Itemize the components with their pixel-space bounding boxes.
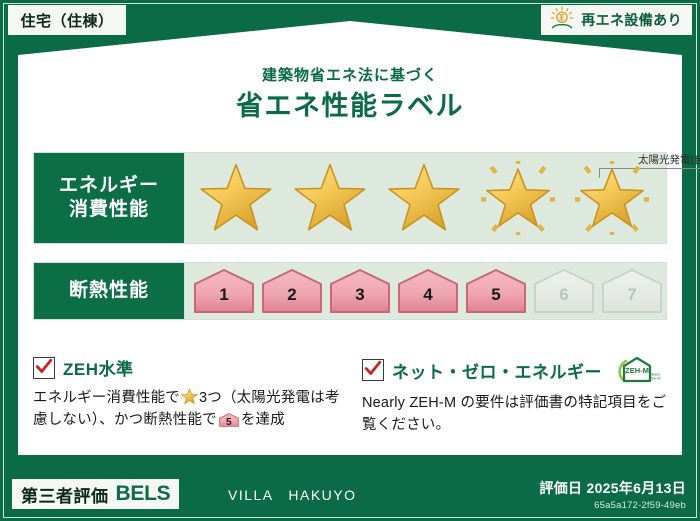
house-level-value: 5 (219, 415, 239, 431)
insulation-level-4: 4 (397, 268, 459, 314)
checkbox-checked-icon (362, 359, 384, 381)
star-rating (185, 153, 666, 243)
star-icon (481, 161, 555, 235)
label-subtitle: 建築物省エネ法に基づく (0, 64, 700, 85)
zeh-note-header: ZEH水準 (33, 355, 343, 380)
renewable-badge-label: 再エネ設備あり (581, 10, 682, 30)
insulation-caption-label: 断熱性能 (69, 279, 149, 303)
document-id: 65a5a172-2f59-49eb (539, 500, 686, 511)
zeh-m-logo-icon: ZEH-M Nearly ZEH-M (615, 355, 661, 385)
star-cell (379, 156, 469, 240)
energy-caption-line1: エネルギー (59, 174, 159, 198)
star-icon (293, 161, 367, 235)
star-cell-solar (473, 156, 563, 240)
star-icon (575, 161, 649, 235)
building-name: VILLA HAKUYO (228, 485, 357, 505)
insulation-performance-row: 断熱性能 1 2 (33, 262, 667, 320)
energy-performance-row: エネルギー 消費性能 太陽光発電(自家消費)分 (33, 152, 667, 244)
insulation-level-label: 2 (261, 285, 323, 305)
star-cell (285, 156, 375, 240)
star-icon (181, 388, 198, 405)
insulation-level-5: 5 (465, 268, 527, 314)
nze-note-body: Nearly ZEH-M の要件は評価書の特記項目をご覧ください。 (362, 392, 672, 437)
zeh-body-text-1: エネルギー消費性能で (33, 390, 180, 406)
energy-performance-stars-area: 太陽光発電(自家消費)分 (185, 152, 667, 244)
nze-note-header: ネット・ゼロ・エネルギー ZEH-M Nearly ZEH-M (362, 355, 672, 385)
energy-caption-line2: 消費性能 (69, 198, 149, 222)
svg-text:Nearly: Nearly (650, 373, 660, 377)
insulation-level-label: 1 (193, 285, 255, 305)
insulation-level-label: 6 (533, 285, 595, 305)
insulation-level-3: 3 (329, 268, 391, 314)
label-title: 省エネ性能ラベル (0, 84, 700, 123)
net-zero-energy-note: ネット・ゼロ・エネルギー ZEH-M Nearly ZEH-M Nearly Z… (362, 355, 672, 437)
bels-brand-label: BELS (116, 482, 171, 506)
star-icon (387, 161, 461, 235)
insulation-levels-area: 1 2 3 4 5 (185, 262, 667, 320)
zeh-note-title: ZEH水準 (63, 355, 134, 380)
insulation-level-scale: 1 2 3 4 5 (185, 263, 666, 319)
energy-performance-caption: エネルギー 消費性能 (33, 152, 185, 244)
zeh-standard-note: ZEH水準 エネルギー消費性能で3つ（太陽光発電は考慮しない）、かつ断熱性能で5… (33, 355, 343, 432)
insulation-level-label: 5 (465, 285, 527, 305)
building-type-label: 住宅（住棟） (20, 10, 113, 31)
nze-note-title: ネット・ゼロ・エネルギー (392, 358, 602, 383)
energy-label-root: 住宅（住棟） 再エネ設備あり 建築物省エネ法に基づく 省エ (0, 0, 700, 521)
star-cell-solar (567, 156, 657, 240)
svg-text:ZEH-M: ZEH-M (649, 377, 660, 381)
bels-prefix-label: 第三者評価 (21, 482, 109, 507)
svg-text:ZEH-M: ZEH-M (625, 366, 649, 375)
star-cell (191, 156, 281, 240)
insulation-level-label: 4 (397, 285, 459, 305)
insulation-performance-caption: 断熱性能 (33, 262, 185, 320)
insulation-level-label: 7 (601, 285, 663, 305)
zeh-body-text-3: を達成 (241, 412, 285, 428)
evaluation-date: 評価日 2025年6月13日 (539, 478, 686, 498)
insulation-level-1: 1 (193, 268, 255, 314)
house-level-icon: 5 (219, 412, 239, 428)
renewable-energy-badge: 再エネ設備あり (541, 5, 692, 35)
insulation-level-label: 3 (329, 285, 391, 305)
insulation-level-7: 7 (601, 268, 663, 314)
bels-badge: 第三者評価 BELS (12, 479, 179, 509)
building-type-tab: 住宅（住棟） (8, 5, 126, 35)
sun-icon (549, 6, 575, 35)
checkbox-checked-icon (33, 357, 55, 379)
star-icon (199, 161, 273, 235)
insulation-level-2: 2 (261, 268, 323, 314)
evaluation-date-block: 評価日 2025年6月13日 65a5a172-2f59-49eb (539, 478, 686, 511)
insulation-level-6: 6 (533, 268, 595, 314)
zeh-note-body: エネルギー消費性能で3つ（太陽光発電は考慮しない）、かつ断熱性能で5を達成 (33, 387, 343, 432)
